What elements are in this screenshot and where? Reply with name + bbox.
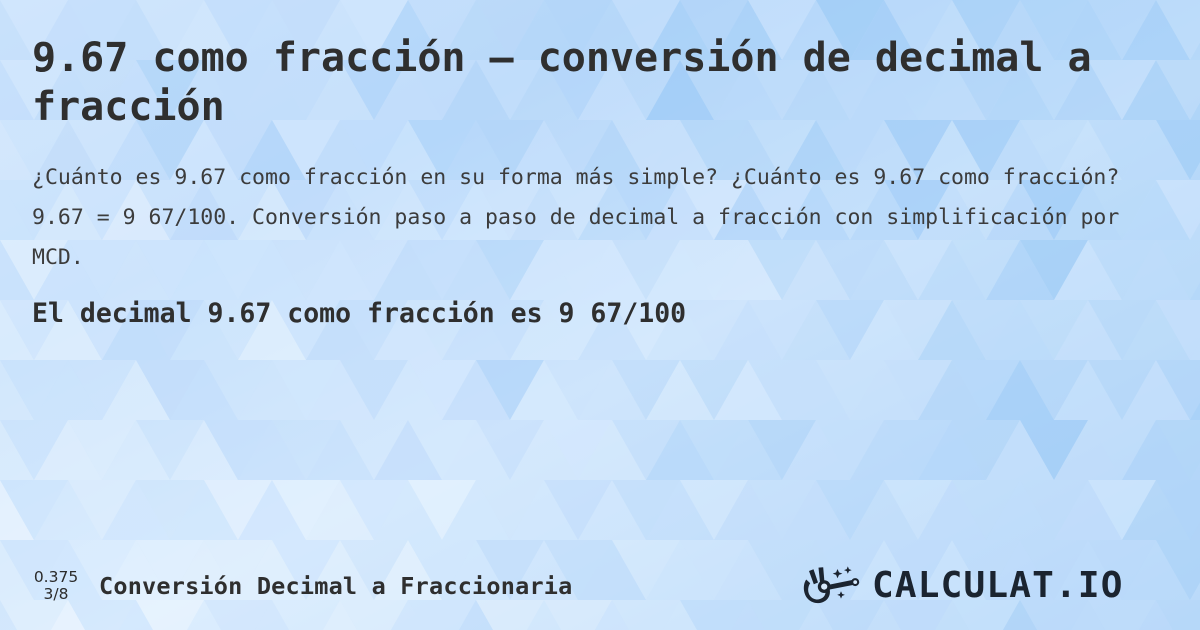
magic-wand-icon — [802, 565, 866, 607]
description-text: ¿Cuánto es 9.67 como fracción en su form… — [32, 158, 1142, 279]
decimal-fraction-icon: 0.375 3/8 — [26, 569, 86, 604]
footer-left-group: 0.375 3/8 Conversión Decimal a Fracciona… — [26, 569, 573, 604]
footer: 0.375 3/8 Conversión Decimal a Fracciona… — [0, 542, 1200, 630]
page-title: 9.67 como fracción – conversión de decim… — [32, 34, 1092, 132]
decimal-fraction-icon-fraction: 3/8 — [44, 586, 69, 603]
calculatio-wordmark: CALCULAT.IO — [872, 565, 1172, 607]
footer-section-title: Conversión Decimal a Fraccionaria — [99, 572, 573, 600]
decimal-fraction-icon-decimal: 0.375 — [34, 569, 78, 586]
calculatio-wordmark-text: CALCULAT.IO — [872, 565, 1124, 606]
result-statement: El decimal 9.67 como fracción es 9 67/10… — [32, 298, 1168, 329]
brand-logo[interactable]: CALCULAT.IO — [802, 565, 1180, 607]
poster-content: 9.67 como fracción – conversión de decim… — [0, 0, 1200, 630]
